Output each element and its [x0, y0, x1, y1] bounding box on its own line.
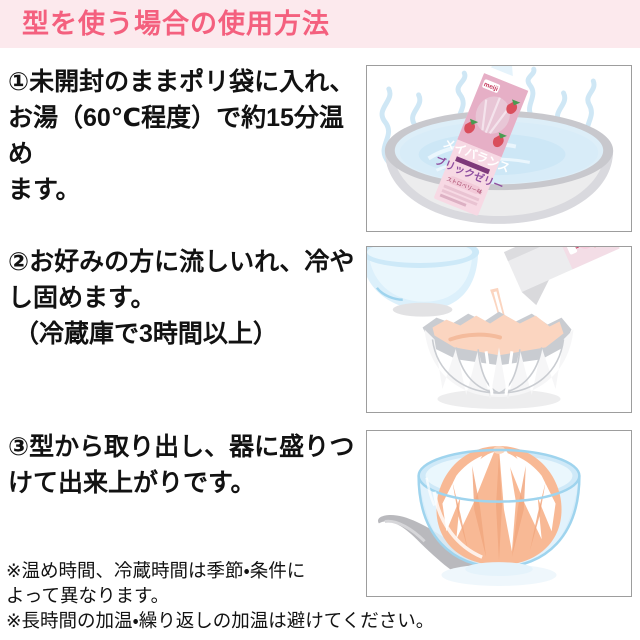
step-3: ③型から取り出し、器に盛りつ けて出来上がりです。 — [8, 429, 360, 501]
step-2-line-2: し固めます。 — [8, 280, 360, 316]
steps-column: ①未開封のままポリ袋に入れ、 お湯（60℃程度）で約15分温め ます。 ②お好み… — [0, 48, 362, 548]
carton-in-hot-water-bowl-illustration: meiji メイバランス ブリックゼリー ストロベリー味 — [367, 66, 631, 231]
step-1-line-1: ①未開封のままポリ袋に入れ、 — [8, 64, 360, 100]
step-1-line-3: ます。 — [8, 172, 360, 208]
pouring-into-mold-illustration: meiji — [367, 247, 631, 412]
step-1-line-2: お湯（60℃程度）で約15分温め — [8, 100, 360, 172]
illustration-panel-step-1: meiji メイバランス ブリックゼリー ストロベリー味 — [366, 65, 632, 232]
step-2-line-1: ②お好みの方に流しいれ、冷や — [8, 244, 360, 280]
step-3-line-1: ③型から取り出し、器に盛りつ — [8, 429, 360, 465]
step-2: ②お好みの方に流しいれ、冷や し固めます。 （冷蔵庫で3時間以上） — [8, 244, 360, 352]
footnote-2: ※長時間の加温・繰り返しの加温は避けてください。 — [6, 608, 640, 633]
step-2-sub-note: （冷蔵庫で3時間以上） — [8, 316, 360, 352]
step-3-line-2: けて出来上がりです。 — [8, 465, 360, 501]
instruction-graphic: 型を使う場合の使用方法 ①未開封のままポリ袋に入れ、 お湯（60℃程度）で約15… — [0, 0, 640, 640]
illustration-panel-step-2: meiji — [366, 246, 632, 413]
illustration-panel-step-3 — [366, 430, 632, 597]
jelly-dome — [436, 446, 561, 565]
page-title: 型を使う場合の使用方法 — [22, 6, 330, 42]
step-1: ①未開封のままポリ袋に入れ、 お湯（60℃程度）で約15分温め ます。 — [8, 64, 360, 208]
finished-jelly-in-glass-bowl-illustration — [367, 431, 631, 596]
